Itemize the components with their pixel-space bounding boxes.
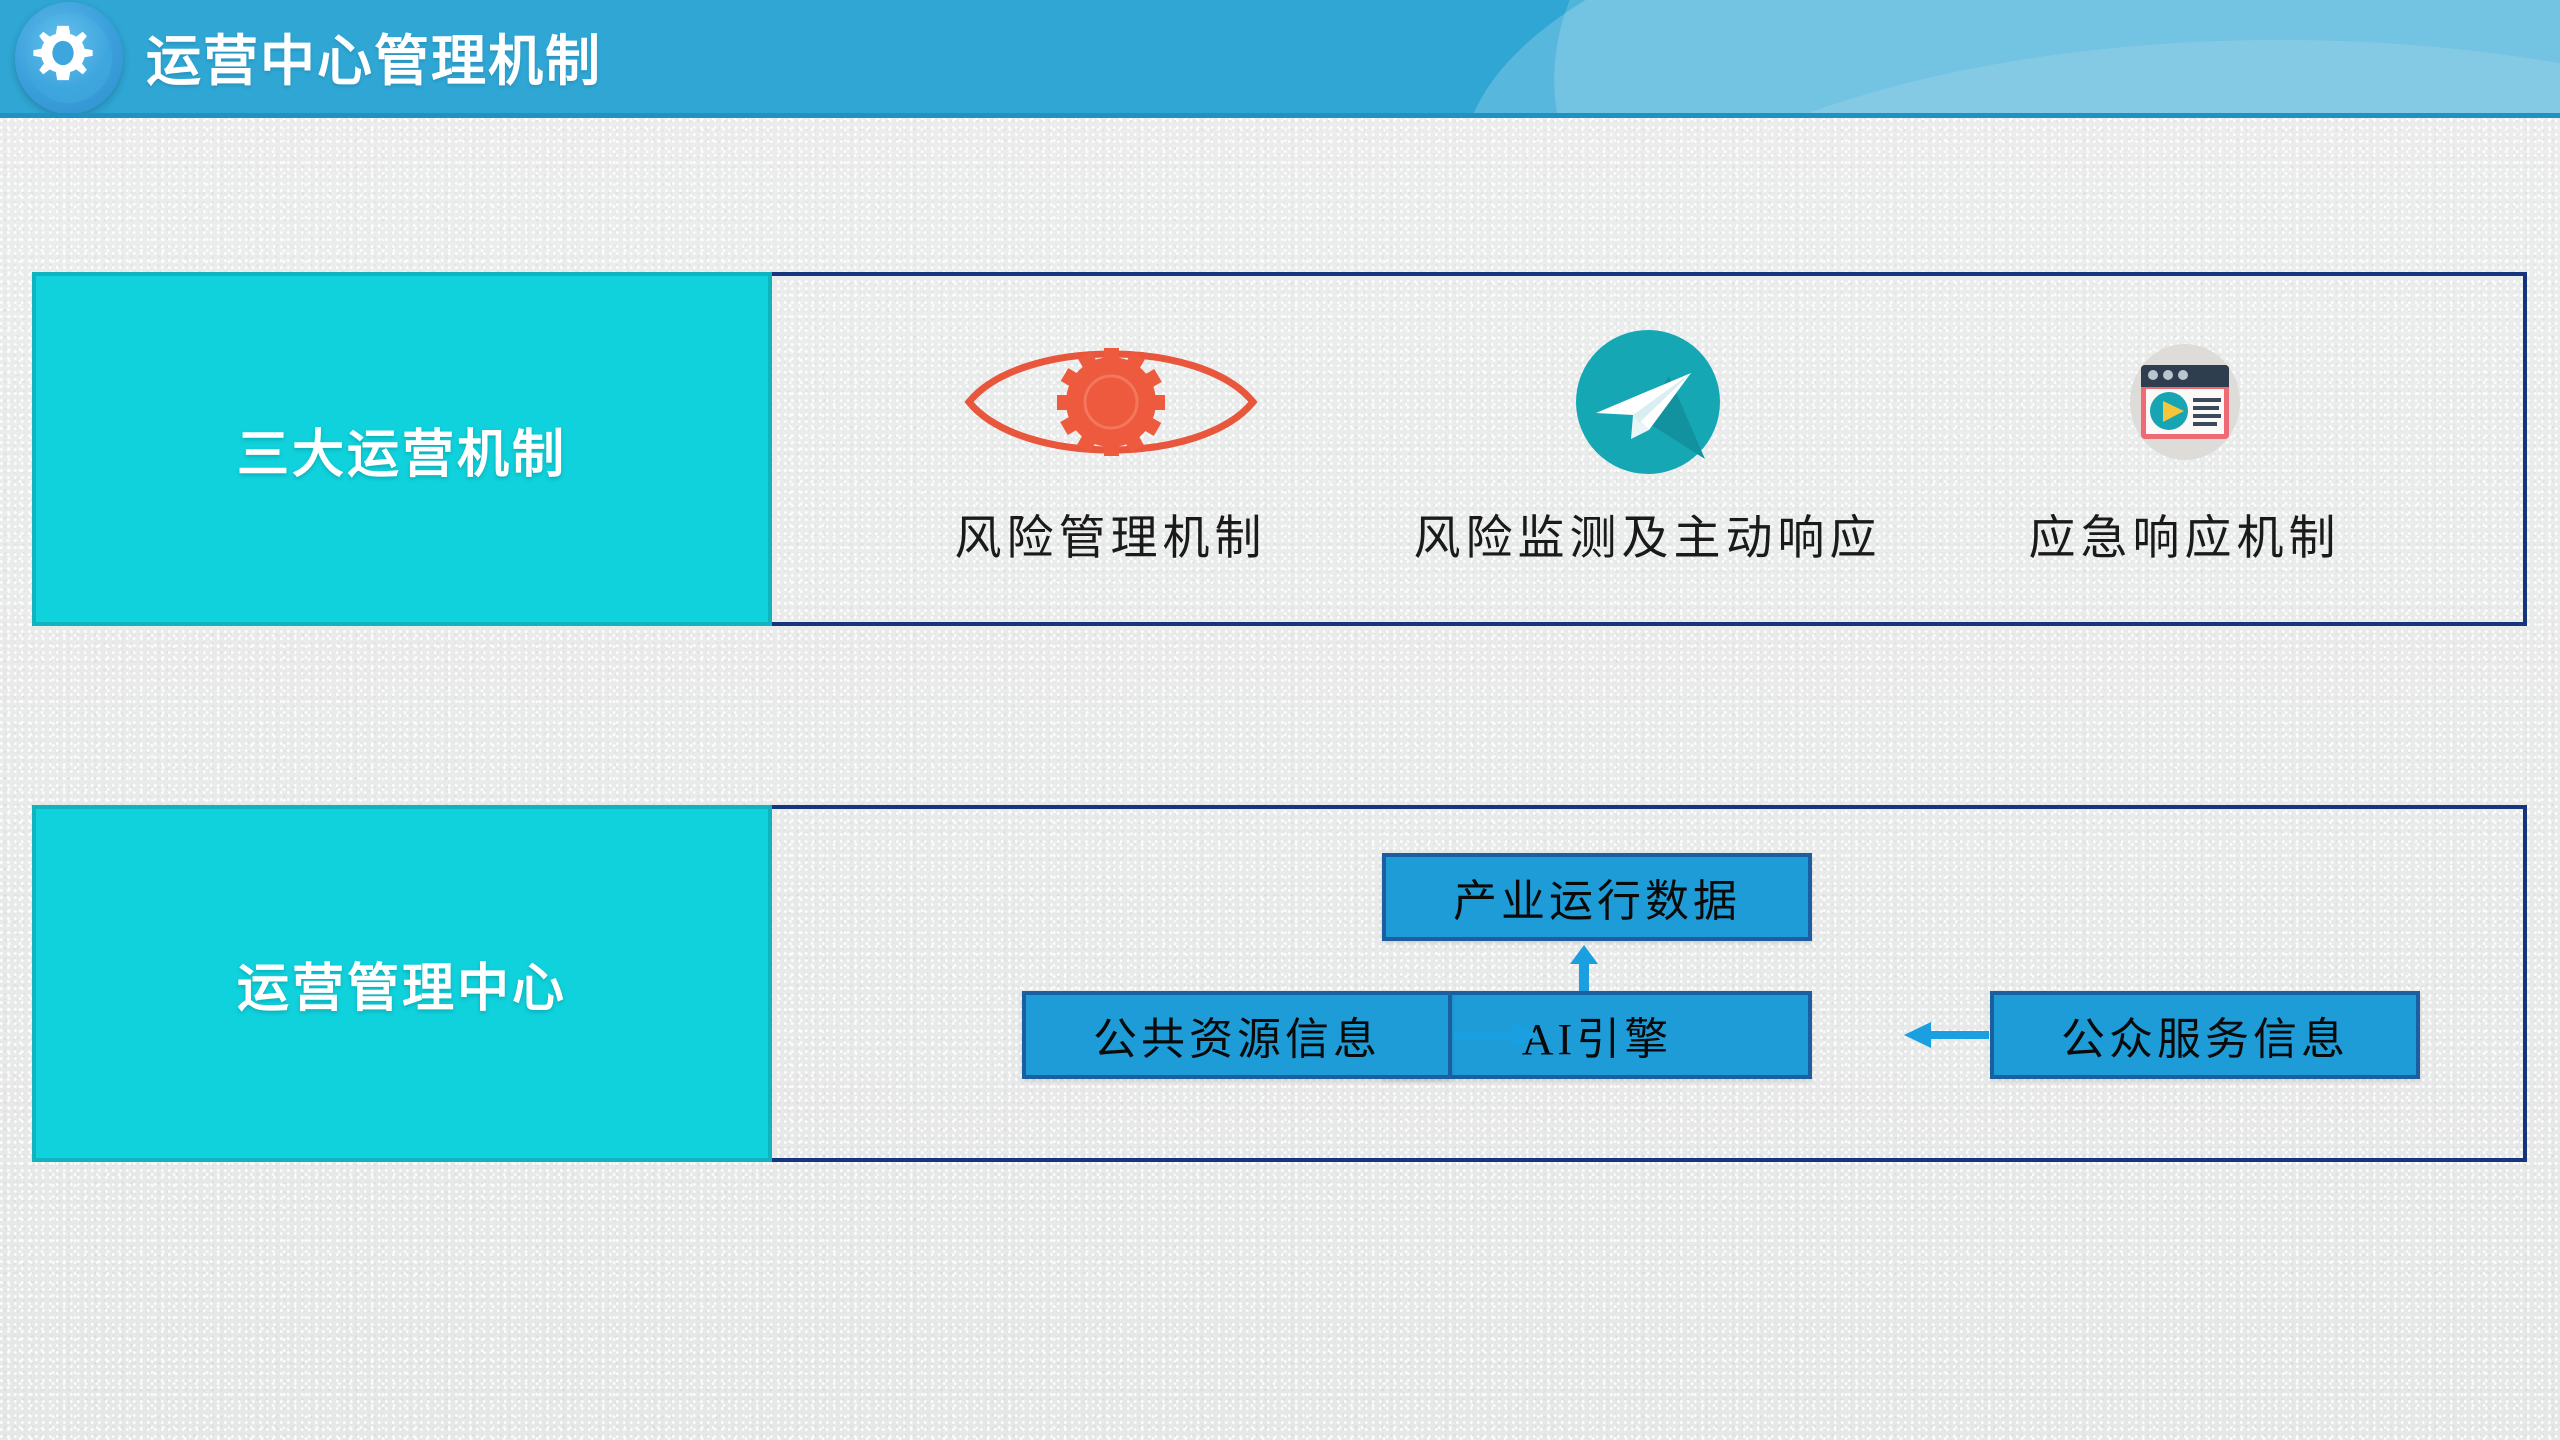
flow-diagram: 产业运行数据 AI引擎 公共资源信息 公众服务信息 — [772, 809, 2523, 1158]
page-title: 运营中心管理机制 — [146, 16, 602, 96]
browser-play-icon-wrap — [2120, 331, 2250, 473]
paper-plane-circle-icon — [1573, 327, 1723, 477]
browser-play-icon — [2120, 337, 2250, 467]
node-public-resource-info[interactable]: 公共资源信息 — [1022, 991, 1452, 1079]
mechanism-label: 应急响应机制 — [2029, 499, 2341, 568]
panel-2-label: 运营管理中心 — [32, 805, 772, 1162]
panel-1-label: 三大运营机制 — [32, 272, 772, 626]
panel-three-mechanisms: 三大运营机制 — [32, 272, 2527, 626]
mechanism-list: 风险管理机制 风险监测及主动响应 — [772, 276, 2523, 622]
eye-gear-icon — [961, 332, 1261, 472]
header-underline — [0, 113, 2560, 118]
mechanism-card-risk-management[interactable]: 风险管理机制 — [851, 331, 1371, 568]
paper-plane-circle-icon-wrap — [1573, 331, 1723, 473]
page-header: 运营中心管理机制 — [0, 0, 2560, 118]
arrow-left-to-center-icon — [1454, 1021, 1539, 1049]
mechanism-label: 风险管理机制 — [955, 499, 1267, 568]
node-industry-data[interactable]: 产业运行数据 — [1382, 853, 1812, 941]
panel-1-body: 风险管理机制 风险监测及主动响应 — [772, 276, 2523, 622]
panel-operations-center: 运营管理中心 产业运行数据 AI引擎 公共资源信息 公众服务信息 — [32, 805, 2527, 1162]
arrow-right-to-center-icon — [1904, 1021, 1989, 1049]
node-public-service-info[interactable]: 公众服务信息 — [1990, 991, 2420, 1079]
mechanism-card-emergency-response[interactable]: 应急响应机制 — [1925, 331, 2445, 568]
mechanism-card-risk-monitoring[interactable]: 风险监测及主动响应 — [1388, 331, 1908, 568]
eye-gear-icon-wrap — [961, 331, 1261, 473]
gear-icon — [32, 20, 94, 86]
slide-canvas: 运营中心管理机制 三大运营机制 — [0, 0, 2560, 1440]
mechanism-label: 风险监测及主动响应 — [1414, 499, 1882, 568]
gear-icon-badge — [10, 0, 128, 118]
arrow-center-to-top-icon — [1570, 945, 1598, 991]
panel-2-body: 产业运行数据 AI引擎 公共资源信息 公众服务信息 — [772, 809, 2523, 1158]
